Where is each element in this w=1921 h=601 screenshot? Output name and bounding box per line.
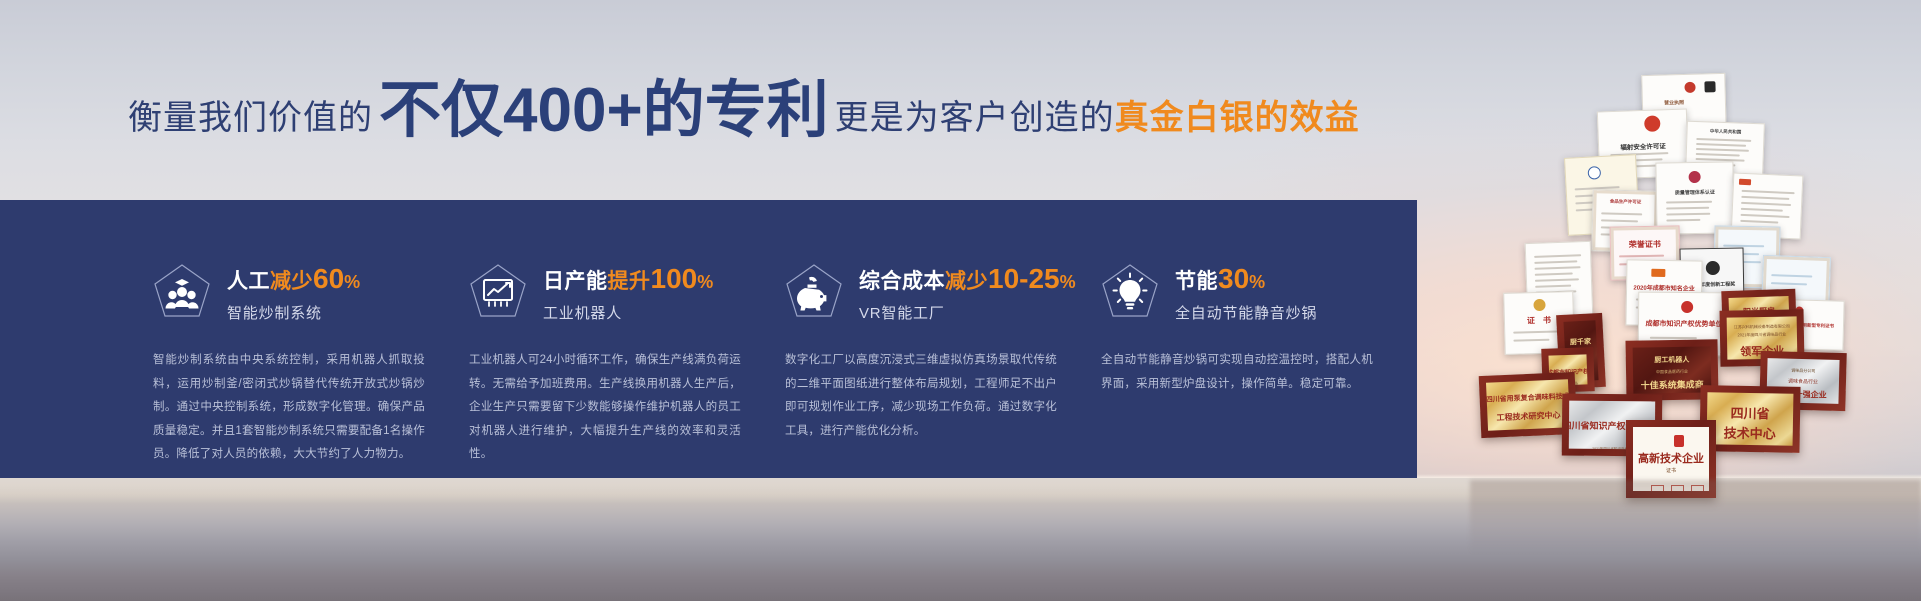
feature-title-label: 节能 [1175, 270, 1218, 293]
feature-titles: 综合成本减少10-25% VR智能工厂 [859, 263, 1076, 323]
feature-title: 人工减少60% [227, 265, 360, 293]
feature-titles: 节能30% 全自动节能静音炒锅 [1175, 263, 1317, 323]
headline-accent: 真金白银的效益 [1115, 101, 1360, 135]
piggy-bank-icon [785, 263, 843, 319]
chart-board-icon [469, 263, 527, 319]
feature-subtitle: 工业机器人 [543, 302, 713, 323]
feature-header: 人工减少60% 智能炒制系统 [153, 263, 469, 325]
patent-value-banner: 衡量我们价值的 不仅400+的专利 更是为客户创造的 真金白银的效益 [0, 0, 1921, 601]
feature-subtitle: VR智能工厂 [859, 302, 1076, 323]
feature-title-metric: 减少 [945, 270, 988, 293]
feature-title-number: 60 [313, 263, 344, 294]
feature-body: 智能炒制系统由中央系统控制，采用机器人抓取投料，运用炒制釜/密闭式炒锅替代传统开… [153, 349, 425, 467]
feature-item-capacity: 日产能提升100% 工业机器人 工业机器人可24小时循环工作，确保生产线满负荷运… [469, 200, 785, 478]
feature-title-metric: 减少 [270, 270, 313, 293]
certificate-stack: 营业执照 辐射安全许可证 中华人民共和国 [1470, 52, 1921, 522]
feature-item-labor: 人工减少60% 智能炒制系统 智能炒制系统由中央系统控制，采用机器人抓取投料，运… [153, 200, 469, 478]
feature-title-label: 日产能 [543, 270, 608, 293]
feature-title-percent: % [1249, 272, 1265, 292]
feature-body: 数字化工厂以高度沉浸式三维虚拟仿真场景取代传统的二维平面图纸进行整体布局规划，工… [785, 349, 1057, 443]
feature-header: 日产能提升100% 工业机器人 [469, 263, 785, 325]
headline-strong: 不仅400+的专利 [379, 80, 829, 142]
feature-title-number: 10-25 [988, 263, 1060, 294]
feature-title: 节能30% [1175, 265, 1317, 293]
lightbulb-icon [1101, 263, 1159, 319]
feature-title: 日产能提升100% [543, 265, 713, 293]
people-group-icon [153, 263, 211, 319]
award-plaque: 高新技术企业 证书 [1626, 420, 1716, 498]
feature-title: 综合成本减少10-25% [859, 265, 1076, 293]
certificate-paper: 质量管理体系认证 [1655, 161, 1734, 234]
feature-body: 全自动节能静音炒锅可实现自动控温控时，搭配人机界面，采用新型炉盘设计，操作简单。… [1101, 349, 1373, 396]
feature-header: 综合成本减少10-25% VR智能工厂 [785, 263, 1101, 325]
feature-list: 人工减少60% 智能炒制系统 智能炒制系统由中央系统控制，采用机器人抓取投料，运… [0, 200, 1417, 478]
feature-panel: 人工减少60% 智能炒制系统 智能炒制系统由中央系统控制，采用机器人抓取投料，运… [0, 200, 1417, 478]
feature-title-percent: % [1060, 272, 1076, 292]
headline-middle: 更是为客户创造的 [829, 101, 1115, 135]
feature-titles: 日产能提升100% 工业机器人 [543, 263, 713, 323]
headline-prefix: 衡量我们价值的 [128, 101, 379, 135]
feature-title-percent: % [344, 272, 360, 292]
feature-title-number: 100 [651, 263, 698, 294]
feature-subtitle: 全自动节能静音炒锅 [1175, 302, 1317, 323]
feature-subtitle: 智能炒制系统 [227, 302, 360, 323]
feature-title-label: 人工 [227, 270, 270, 293]
feature-titles: 人工减少60% 智能炒制系统 [227, 263, 360, 323]
feature-item-energy: 节能30% 全自动节能静音炒锅 全自动节能静音炒锅可实现自动控温控时，搭配人机界… [1101, 200, 1417, 478]
feature-body: 工业机器人可24小时循环工作，确保生产线满负荷运转。无需给予加班费用。生产线换用… [469, 349, 741, 467]
feature-title-number: 30 [1218, 263, 1249, 294]
feature-title-metric: 提升 [608, 270, 651, 293]
feature-title-label: 综合成本 [859, 270, 945, 293]
feature-title-percent: % [697, 272, 713, 292]
headline: 衡量我们价值的 不仅400+的专利 更是为客户创造的 真金白银的效益 [128, 78, 1360, 140]
feature-item-cost: 综合成本减少10-25% VR智能工厂 数字化工厂以高度沉浸式三维虚拟仿真场景取… [785, 200, 1101, 478]
feature-header: 节能30% 全自动节能静音炒锅 [1101, 263, 1417, 325]
